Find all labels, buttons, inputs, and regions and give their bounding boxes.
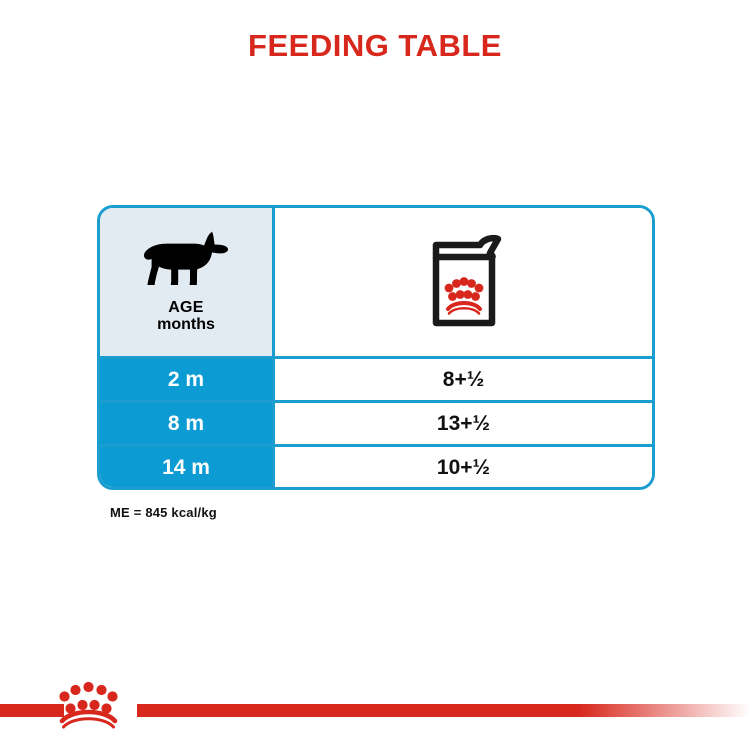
- metabolisable-energy-footnote: ME = 845 kcal/kg: [110, 505, 217, 520]
- table-row: 2 m 8+½: [100, 356, 652, 400]
- feeding-table: AGE months: [97, 205, 655, 490]
- table-row: 14 m 10+½: [100, 444, 652, 488]
- table-cell-amount: 8+½: [275, 359, 652, 400]
- age-label-primary: AGE: [157, 300, 215, 316]
- table-row: 8 m 13+½: [100, 400, 652, 444]
- table-header-age-cell: AGE months: [100, 208, 275, 356]
- table-header-amount-cell: [275, 208, 652, 356]
- table-cell-age: 2 m: [100, 359, 275, 400]
- page-title: FEEDING TABLE: [0, 28, 750, 64]
- age-label-secondary: months: [157, 317, 215, 333]
- table-cell-amount: 10+½: [275, 447, 652, 488]
- table-cell-amount: 13+½: [275, 403, 652, 444]
- age-column-label: AGE months: [157, 300, 215, 333]
- brand-bar-right-segment: [137, 704, 750, 717]
- dog-silhouette-icon: [143, 231, 229, 292]
- food-pouch-icon: [418, 231, 510, 334]
- table-cell-age: 8 m: [100, 403, 275, 444]
- table-cell-age: 14 m: [100, 447, 275, 488]
- table-header-row: AGE months: [100, 208, 652, 356]
- royal-canin-crown-icon: [53, 678, 125, 730]
